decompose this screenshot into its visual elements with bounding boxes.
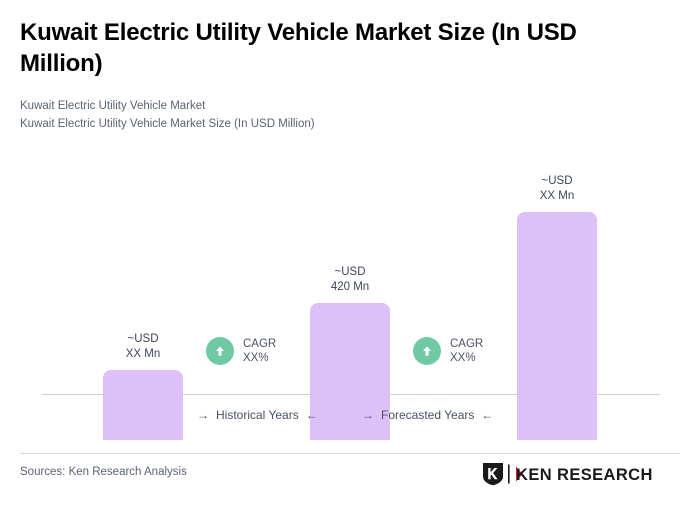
bar-value-label-2: ~USD 420 Mn <box>280 265 420 294</box>
plot-area: ~USD XX Mn ~USD 420 Mn ~USD XX Mn <box>0 0 700 440</box>
cagr-text-1: CAGR XX% <box>243 337 276 366</box>
brand-logo: KEN RESEARCH <box>482 462 660 486</box>
cagr-value-1: XX% <box>243 351 276 365</box>
cagr-value-2: XX% <box>450 351 483 365</box>
bar-value-line-1a: ~USD <box>73 332 213 346</box>
footer-divider <box>20 453 680 454</box>
cagr-up-arrow-icon <box>413 337 441 365</box>
bar-group-2: ~USD 420 Mn <box>310 46 390 440</box>
svg-text:KEN RESEARCH: KEN RESEARCH <box>516 466 653 484</box>
cagr-title-2: CAGR <box>450 337 483 351</box>
arrow-left-icon: ← <box>481 409 493 421</box>
bar-value-line-1b: XX Mn <box>73 347 213 361</box>
arrow-left-icon: ← <box>306 409 318 421</box>
bar-value-label-1: ~USD XX Mn <box>73 332 213 361</box>
bar-group-3: ~USD XX Mn <box>517 46 597 440</box>
cagr-text-2: CAGR XX% <box>450 337 483 366</box>
ken-research-shield-icon <box>482 462 504 486</box>
period-historical: → Historical Years ← <box>197 408 318 422</box>
bar-forecast[interactable] <box>517 212 597 440</box>
bar-value-line-3a: ~USD <box>487 174 627 188</box>
period-historical-label: Historical Years <box>216 408 299 422</box>
cagr-annotation-2: CAGR XX% <box>413 337 483 366</box>
bar-group-1: ~USD XX Mn <box>103 46 183 440</box>
bar-value-line-3b: XX Mn <box>487 189 627 203</box>
period-legend: → Historical Years ← → Forecasted Years … <box>42 408 660 432</box>
period-forecasted-label: Forecasted Years <box>381 408 474 422</box>
cagr-title-1: CAGR <box>243 337 276 351</box>
ken-research-wordmark: KEN RESEARCH <box>508 463 660 485</box>
period-forecasted: → Forecasted Years ← <box>362 408 493 422</box>
sources-text: Sources: Ken Research Analysis <box>20 466 187 478</box>
arrow-right-icon: → <box>197 409 209 421</box>
bar-value-line-2a: ~USD <box>280 265 420 279</box>
cagr-annotation-1: CAGR XX% <box>206 337 276 366</box>
cagr-up-arrow-icon <box>206 337 234 365</box>
bar-value-label-3: ~USD XX Mn <box>487 174 627 203</box>
bar-value-line-2b: 420 Mn <box>280 280 420 294</box>
chart-page: Kuwait Electric Utility Vehicle Market S… <box>0 0 700 520</box>
arrow-right-icon: → <box>362 409 374 421</box>
